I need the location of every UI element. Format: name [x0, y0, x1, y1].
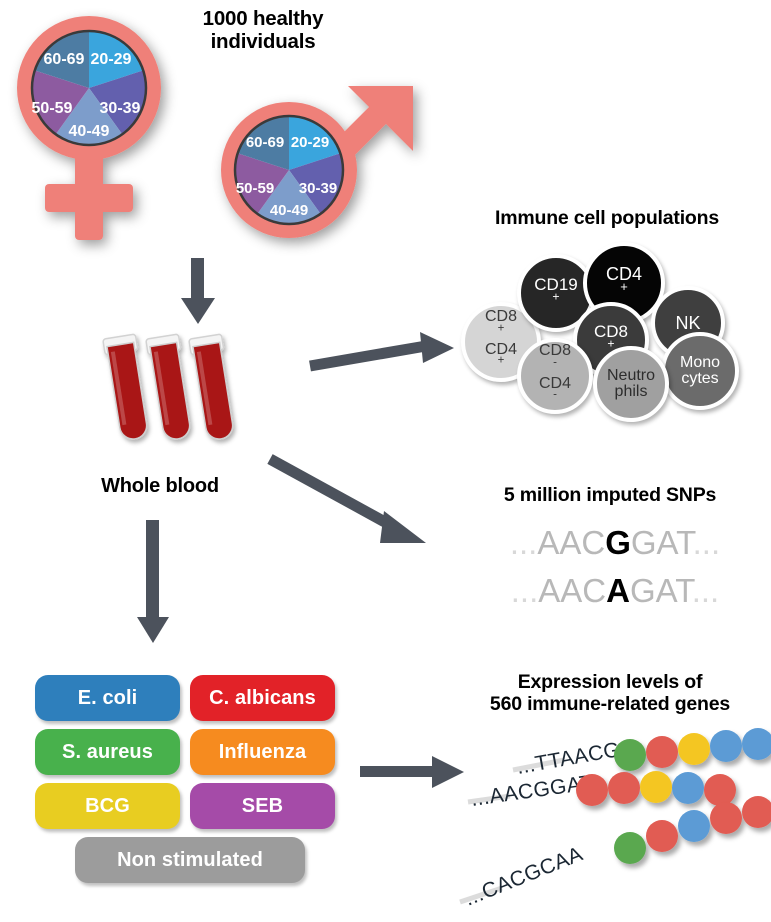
female-symbol: 20-29 30-39 40-49 50-59 60-69	[6, 12, 196, 247]
snp-lead-dots: ...	[511, 572, 539, 609]
immune-cell-bubble-cluster: CD8+ CD4+ CD19+ CD4+ NK CD8+ Mono cytes …	[455, 240, 765, 415]
dna-bead	[742, 796, 771, 828]
arrow-blood-to-immune-cells	[308, 330, 458, 380]
pie-label-60-69: 60-69	[246, 134, 284, 151]
stimuli-row: E. coli C. albicans	[35, 675, 345, 721]
dna-bead	[608, 772, 640, 804]
cell-label-line1: Neutro	[607, 368, 655, 384]
male-symbol: 20-29 30-39 40-49 50-59 60-69	[208, 78, 428, 253]
snp-row: ...AACGGAT...	[470, 524, 760, 562]
dna-bead	[742, 728, 771, 760]
stimulus-influenza[interactable]: Influenza	[190, 729, 335, 775]
pie-label-20-29: 20-29	[291, 134, 329, 151]
stimulus-c-albicans[interactable]: C. albicans	[190, 675, 335, 721]
snp-suffix: GAT	[631, 524, 693, 561]
pie-label-40-49: 40-49	[69, 123, 110, 140]
title-expression-line2: 560 immune-related genes	[455, 694, 765, 716]
pie-label-40-49: 40-49	[270, 202, 308, 219]
title-expression-levels: Expression levels of 560 immune-related …	[455, 672, 765, 716]
snp-prefix: AAC	[538, 572, 606, 609]
dna-bead	[672, 772, 704, 804]
stimuli-row: BCG SEB	[35, 783, 345, 829]
title-expression-line1: Expression levels of	[455, 672, 765, 694]
blood-tube	[103, 334, 152, 441]
dna-bead	[710, 802, 742, 834]
snp-variant-allele: G	[605, 524, 631, 561]
cell-label-line2: CD4-	[539, 376, 571, 409]
cell-bubble-neutrophils[interactable]: Neutro phils	[593, 346, 669, 422]
dna-bead	[678, 810, 710, 842]
cell-label-line2: CD4+	[485, 342, 517, 375]
title-immune-cell-populations: Immune cell populations	[452, 208, 762, 230]
cell-label-line2: cytes	[680, 371, 720, 387]
stimuli-panel: E. coli C. albicans S. aureus Influenza …	[35, 675, 345, 891]
snp-trail-dots: ...	[693, 524, 721, 561]
dna-bead	[710, 730, 742, 762]
dna-bead	[614, 832, 646, 864]
stimuli-row: Non stimulated	[35, 837, 345, 883]
pie-label-20-29: 20-29	[91, 51, 132, 68]
dna-sequence-label: ...CACGCAA	[461, 842, 586, 910]
dna-sequence-label: ...AACGGAT	[469, 771, 594, 811]
snp-lead-dots: ...	[510, 524, 538, 561]
dna-strand: ...AACGGAT	[468, 771, 736, 811]
cell-bubble-cd8neg-cd4neg[interactable]: CD8- CD4-	[517, 338, 593, 414]
snp-prefix: AAC	[537, 524, 605, 561]
dna-strand: ...CACGCAA	[460, 796, 771, 911]
dna-bead	[704, 774, 736, 806]
arrow-blood-to-snps	[268, 455, 433, 555]
cell-label-line1: CD8-	[539, 343, 571, 376]
dna-strand: ...TTAACGG	[513, 728, 771, 779]
pie-label-30-39: 30-39	[299, 180, 337, 197]
snp-row: ...AACAGAT...	[470, 572, 760, 610]
stimulus-seb[interactable]: SEB	[190, 783, 335, 829]
stimulus-bcg[interactable]: BCG	[35, 783, 180, 829]
snp-suffix: GAT	[630, 572, 692, 609]
dna-bead	[614, 739, 646, 771]
stimulus-non-stimulated[interactable]: Non stimulated	[75, 837, 305, 883]
dna-bead	[640, 771, 672, 803]
cell-label-line1: CD8+	[485, 309, 517, 342]
cell-label-line1: Mono	[680, 355, 720, 371]
page-title-cohort: 1000 healthy individuals	[168, 8, 358, 54]
cell-label: CD4+	[606, 265, 642, 302]
cell-label: CD19+	[534, 276, 577, 311]
arrow-blood-to-stimuli	[133, 520, 173, 645]
dna-bead	[646, 736, 678, 768]
cell-label: NK	[675, 314, 700, 332]
dna-bead	[576, 774, 608, 806]
whole-blood-tubes	[95, 330, 245, 465]
stimulus-s-aureus[interactable]: S. aureus	[35, 729, 180, 775]
snp-sequence-block: ...AACGGAT... ...AACAGAT...	[470, 520, 760, 620]
snp-trail-dots: ...	[692, 572, 720, 609]
snp-variant-allele: A	[606, 572, 630, 609]
pie-label-30-39: 30-39	[100, 100, 141, 117]
label-whole-blood: Whole blood	[60, 475, 260, 497]
stimuli-row: S. aureus Influenza	[35, 729, 345, 775]
dna-bead	[678, 733, 710, 765]
cell-bubble-monocytes[interactable]: Mono cytes	[661, 332, 739, 410]
pie-label-50-59: 50-59	[32, 100, 73, 117]
stimulus-e-coli[interactable]: E. coli	[35, 675, 180, 721]
dna-bead	[646, 820, 678, 852]
blood-tube	[189, 334, 238, 441]
gene-expression-strands: ...TTAACGG ...AACGGAT ..	[440, 730, 771, 920]
pie-label-60-69: 60-69	[44, 51, 85, 68]
title-snps: 5 million imputed SNPs	[455, 485, 765, 507]
cell-label-line2: phils	[607, 384, 655, 400]
blood-tube	[146, 334, 195, 441]
arrow-cohort-to-blood	[178, 258, 218, 326]
pie-label-50-59: 50-59	[236, 180, 274, 197]
